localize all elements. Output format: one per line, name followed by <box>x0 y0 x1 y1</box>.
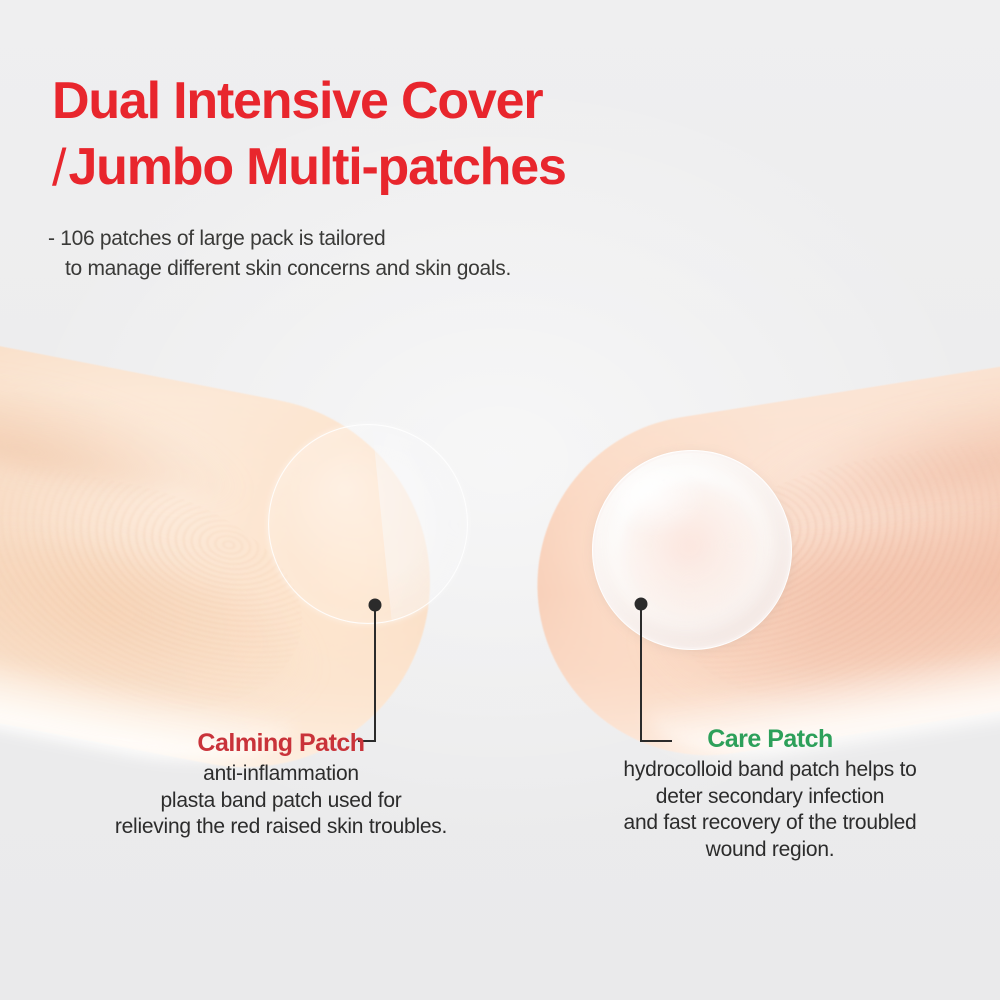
calming-patch-desc-line1: anti-inflammation <box>26 761 536 788</box>
page-subtitle: - 106 patches of large pack is tailored … <box>48 224 511 284</box>
care-patch-rim <box>592 450 792 650</box>
page-subtitle-line1: - 106 patches of large pack is tailored <box>48 227 385 250</box>
product-infographic: Dual Intensive Cover /Jumbo Multi-patche… <box>0 0 1000 1000</box>
calming-patch-desc-line2: plasta band patch used for <box>26 788 536 815</box>
page-title-line2-wrap: /Jumbo Multi-patches <box>52 134 812 200</box>
page-subtitle-line2: to manage different skin concerns and sk… <box>48 254 511 284</box>
care-patch-desc-line3: and fast recovery of the troubled <box>520 810 1000 837</box>
care-patch-title: Care Patch <box>520 724 1000 755</box>
care-patch-callout: Care Patch hydrocolloid band patch helps… <box>520 724 1000 863</box>
calming-patch-edge <box>268 424 468 624</box>
calming-patch-callout: Calming Patch anti-inflammation plasta b… <box>26 728 536 841</box>
calming-patch-title: Calming Patch <box>26 728 536 759</box>
page-title-line1: Dual Intensive Cover <box>52 72 542 130</box>
care-patch-desc-line2: deter secondary infection <box>520 784 1000 811</box>
page-title-line2: Jumbo Multi-patches <box>68 138 565 196</box>
care-patch-desc-line1: hydrocolloid band patch helps to <box>520 757 1000 784</box>
calming-patch-desc-line3: relieving the red raised skin troubles. <box>26 814 536 841</box>
page-title: Dual Intensive Cover /Jumbo Multi-patche… <box>52 68 812 200</box>
care-patch-desc-line4: wound region. <box>520 837 1000 864</box>
title-slash: / <box>52 135 66 201</box>
